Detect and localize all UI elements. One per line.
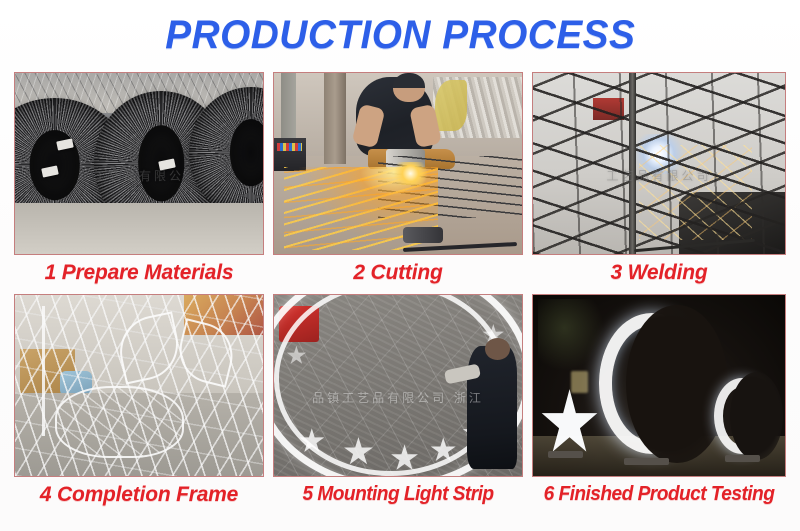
step-1-caption: 1 Prepare Materials [14, 255, 264, 286]
page-header: PRODUCTION PROCESS [0, 0, 800, 70]
step-6-photo [532, 294, 786, 477]
process-steps-grid: 工艺品有限公 1 Prepare Materials [14, 72, 786, 522]
step-4-caption: 4 Completion Frame [14, 477, 264, 508]
process-step-1: 工艺品有限公 1 Prepare Materials [14, 72, 264, 286]
wire-coils-scene: 工艺品有限公 [15, 73, 263, 254]
process-step-5: 品镇工艺品有限公司 浙江 5 Mounting Light Strip [273, 294, 523, 508]
step-2-caption: 2 Cutting [273, 255, 523, 286]
step-6-caption: 6 Finished Product Testing [537, 477, 781, 508]
production-process-infographic: PRODUCTION PROCESS 工艺品有限公 1 Prepare Mate… [0, 0, 800, 531]
wire-frame-sculpture-scene [15, 295, 263, 476]
step-2-photo [273, 72, 523, 255]
step-4-photo [14, 294, 264, 477]
step-5-caption: 5 Mounting Light Strip [278, 477, 518, 508]
process-step-6: 6 Finished Product Testing [532, 294, 786, 508]
process-step-3: 工艺品有限公司 3 Welding [532, 72, 786, 286]
process-step-2: 2 Cutting [273, 72, 523, 286]
step-3-caption: 3 Welding [532, 255, 786, 286]
step-5-photo: 品镇工艺品有限公司 浙江 [273, 294, 523, 477]
process-step-4: 4 Completion Frame [14, 294, 264, 508]
led-strip-mounting-scene: 品镇工艺品有限公司 浙江 [274, 295, 522, 476]
step-3-photo: 工艺品有限公司 [532, 72, 786, 255]
finished-light-sculptures-scene [533, 295, 785, 476]
page-title: PRODUCTION PROCESS [165, 13, 635, 58]
step-1-photo: 工艺品有限公 [14, 72, 264, 255]
metal-cutting-scene [274, 73, 522, 254]
welding-scene: 工艺品有限公司 [533, 73, 785, 254]
